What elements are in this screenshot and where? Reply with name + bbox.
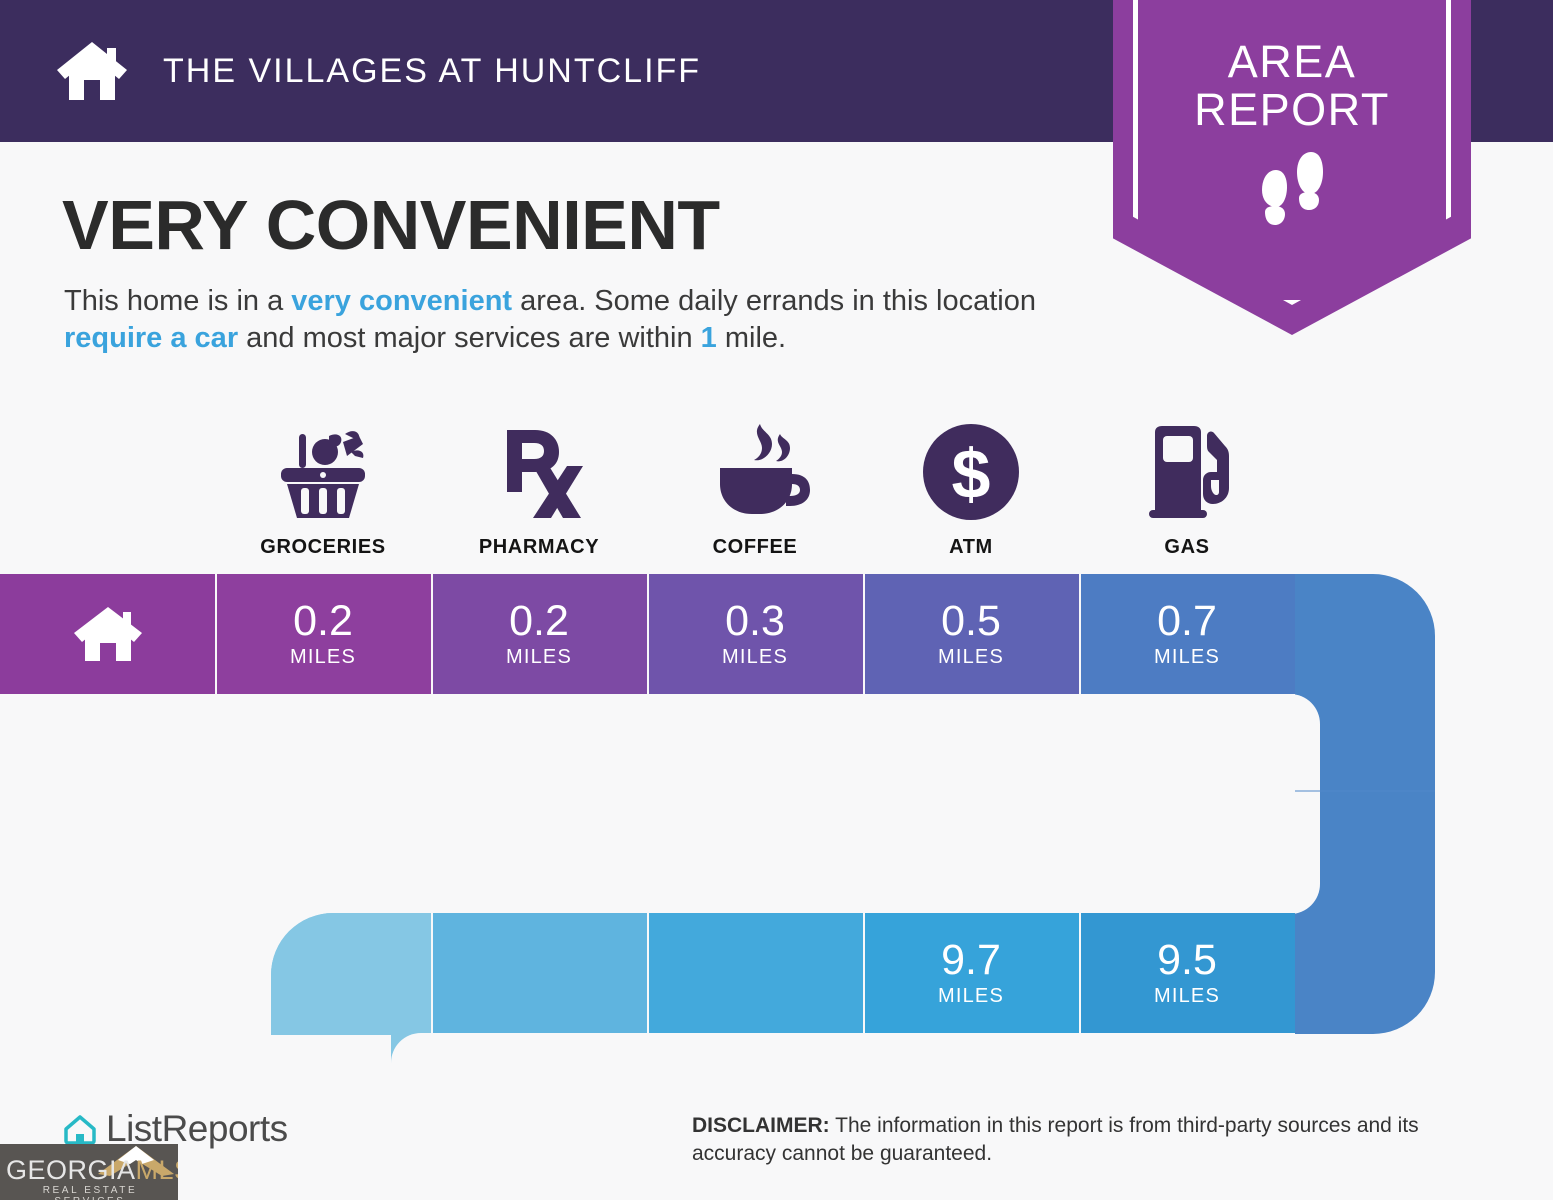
distance-unit: MILES bbox=[506, 645, 572, 669]
area-report-page: THE VILLAGES AT HUNTCLIFF AREA REPORT VE… bbox=[0, 0, 1553, 1200]
track-segment-gas: 0.7 MILES bbox=[1079, 574, 1295, 694]
track-corner-left-notch bbox=[391, 1033, 531, 1200]
track-segment-atm: 0.5 MILES bbox=[863, 574, 1079, 694]
distance-value: 9.5 bbox=[1157, 938, 1217, 982]
track-segment-lead-2 bbox=[431, 913, 647, 1033]
distance-track: 0.2 MILES 0.2 MILES 0.3 MILES 0.5 MILES … bbox=[0, 0, 1553, 1200]
house-outline-icon bbox=[60, 1109, 100, 1149]
home-marker-icon bbox=[72, 605, 144, 663]
distance-unit: MILES bbox=[1154, 645, 1220, 669]
georgia-mls-logo: GEORGIAMLS REAL ESTATE SERVICES bbox=[0, 1144, 178, 1200]
mls-wordmark: GEORGIAMLS bbox=[6, 1156, 172, 1184]
track-divider bbox=[431, 913, 433, 1033]
disclaimer: DISCLAIMER: The information in this repo… bbox=[692, 1112, 1492, 1168]
track-divider bbox=[647, 913, 649, 1033]
distance-value: 0.3 bbox=[725, 599, 785, 643]
track-home-cell bbox=[0, 574, 215, 694]
track-segment-lead-1 bbox=[271, 913, 431, 1033]
track-divider bbox=[647, 574, 649, 694]
distance-value: 0.5 bbox=[941, 599, 1001, 643]
distance-value: 9.7 bbox=[941, 938, 1001, 982]
mls-tagline: REAL ESTATE SERVICES bbox=[7, 1185, 173, 1200]
track-corner-right-notch bbox=[1200, 694, 1320, 914]
track-divider bbox=[863, 574, 865, 694]
disclaimer-label: DISCLAIMER: bbox=[692, 1114, 830, 1137]
track-segment-groceries: 0.2 MILES bbox=[215, 574, 431, 694]
distance-unit: MILES bbox=[938, 645, 1004, 669]
track-divider bbox=[1079, 574, 1081, 694]
track-corner-right-seam bbox=[1295, 790, 1435, 792]
track-segment-pharmacy: 0.2 MILES bbox=[431, 574, 647, 694]
distance-unit: MILES bbox=[1154, 984, 1220, 1008]
distance-value: 0.2 bbox=[293, 599, 353, 643]
track-divider bbox=[1079, 913, 1081, 1033]
mls-georgia: GEORGIA bbox=[6, 1155, 136, 1185]
mls-mls: MLS bbox=[136, 1155, 178, 1185]
track-divider bbox=[215, 574, 217, 694]
track-segment-lead-3 bbox=[647, 913, 863, 1033]
distance-value: 0.7 bbox=[1157, 599, 1217, 643]
distance-unit: MILES bbox=[938, 984, 1004, 1008]
track-divider bbox=[863, 913, 865, 1033]
track-inner-fill bbox=[0, 696, 1200, 912]
track-segment-coffee: 0.3 MILES bbox=[647, 574, 863, 694]
distance-value: 0.2 bbox=[509, 599, 569, 643]
distance-unit: MILES bbox=[290, 645, 356, 669]
track-divider bbox=[431, 574, 433, 694]
track-segment-medical: 9.5 MILES bbox=[1079, 913, 1295, 1033]
track-segment-cleaners: 9.7 MILES bbox=[863, 913, 1079, 1033]
distance-unit: MILES bbox=[722, 645, 788, 669]
